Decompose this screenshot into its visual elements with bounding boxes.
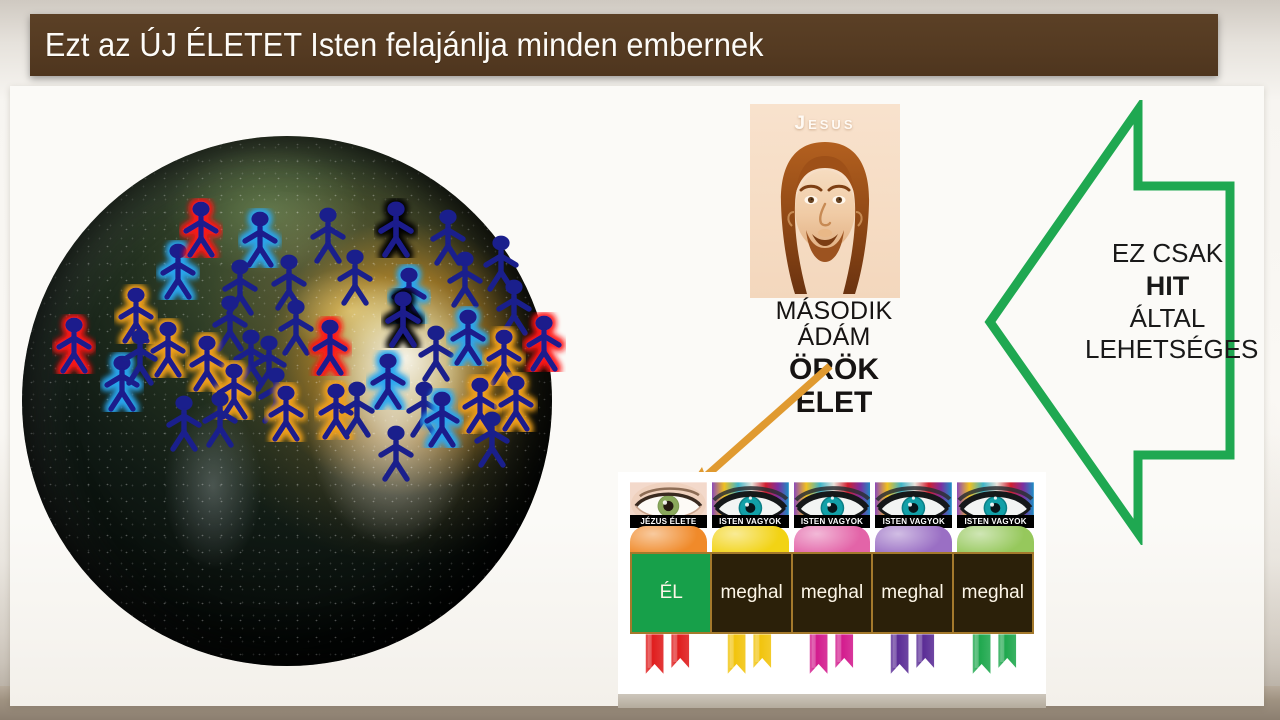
stick-figure xyxy=(335,378,379,438)
jesus-heading: Jesus xyxy=(750,113,900,135)
eye-cell: JÉZUS ÉLETE xyxy=(630,482,707,528)
stick-figure xyxy=(374,422,418,482)
stick-figure xyxy=(308,316,352,376)
verdict-cell: meghal xyxy=(791,554,871,632)
figure-legs xyxy=(712,634,789,686)
stick-figure xyxy=(179,198,223,258)
jesus-face-illustration xyxy=(768,138,882,298)
stick-figure xyxy=(522,312,566,372)
green-arrow-line-3: ÁLTAL xyxy=(1085,303,1250,335)
jesus-portrait-card: Jesus xyxy=(750,104,900,298)
verdict-cell: meghal xyxy=(952,554,1032,632)
green-arrow-line-2: HIT xyxy=(1085,270,1250,303)
stick-figure xyxy=(470,408,514,468)
earth-globe xyxy=(22,136,552,666)
life-death-table: JÉZUS ÉLETE ISTEN VAGYOK xyxy=(618,472,1046,708)
stick-figure xyxy=(52,314,96,374)
stick-figure xyxy=(333,246,377,306)
verdict-cell: meghal xyxy=(871,554,951,632)
eye-cell: ISTEN VAGYOK xyxy=(957,482,1034,528)
stick-figure xyxy=(264,382,308,442)
eye-cell: ISTEN VAGYOK xyxy=(875,482,952,528)
slide: Ezt az ÚJ ÉLETET Isten felajánlja minden… xyxy=(0,0,1280,720)
jesus-caption-line1: MÁSODIK ÁDÁM xyxy=(750,298,918,351)
verdict-cell: meghal xyxy=(710,554,790,632)
figure-legs xyxy=(794,634,871,686)
green-arrow-text: EZ CSAK HIT ÁLTAL LEHETSÉGES xyxy=(1085,238,1250,366)
figure-legs xyxy=(875,634,952,686)
eye-cell: ISTEN VAGYOK xyxy=(794,482,871,528)
figure-legs-row xyxy=(630,634,1034,686)
slide-title-bar: Ezt az ÚJ ÉLETET Isten felajánlja minden… xyxy=(30,14,1218,76)
eye-cell: ISTEN VAGYOK xyxy=(712,482,789,528)
page-title: Ezt az ÚJ ÉLETET Isten felajánlja minden… xyxy=(30,26,764,64)
stick-figure xyxy=(198,388,242,448)
verdict-row: ÉLmeghalmeghalmeghalmeghal xyxy=(630,552,1034,634)
stick-figure xyxy=(374,198,418,258)
figure-legs xyxy=(630,634,707,686)
stick-figure xyxy=(118,326,162,386)
verdict-cell: ÉL xyxy=(632,554,710,632)
diagram-floor xyxy=(618,694,1046,708)
figure-legs xyxy=(957,634,1034,686)
eye-image-row: JÉZUS ÉLETE ISTEN VAGYOK xyxy=(630,482,1034,528)
green-arrow-line-1: EZ CSAK xyxy=(1085,238,1250,270)
green-arrow-line-4: LEHETSÉGES xyxy=(1085,334,1250,366)
